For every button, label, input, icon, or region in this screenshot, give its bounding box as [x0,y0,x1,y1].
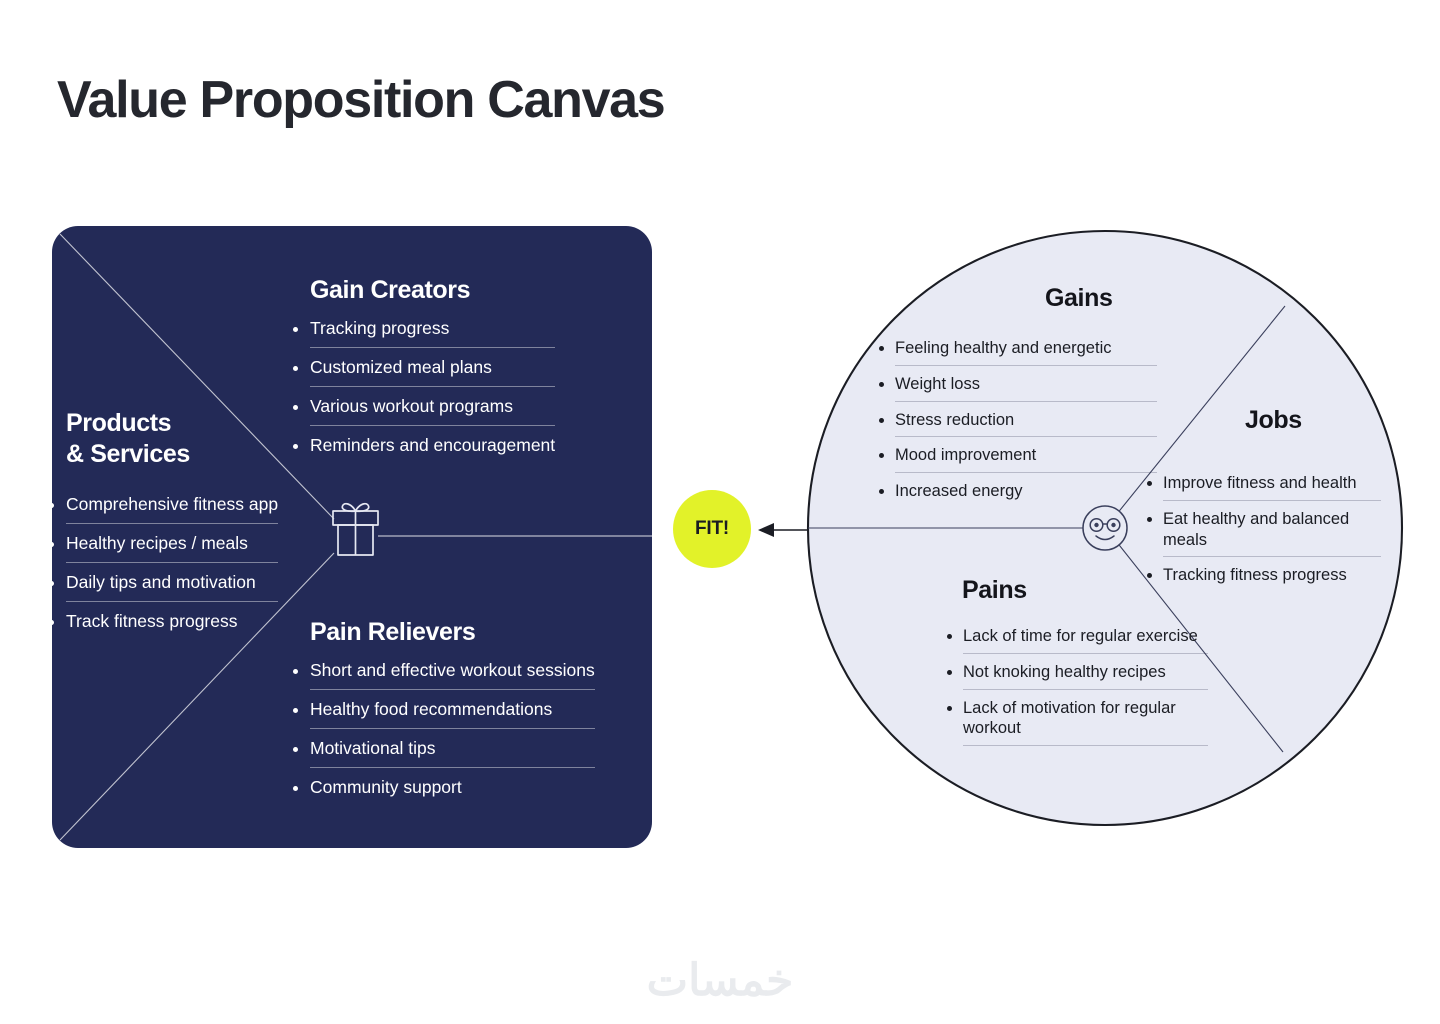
list-item: Reminders and encouragement [310,435,555,464]
gain-creators-heading: Gain Creators [310,276,470,305]
gift-icon [333,504,378,555]
jobs-heading: Jobs [1245,406,1302,435]
list-item: Mood improvement [895,445,1157,473]
page-title: Value Proposition Canvas [57,70,664,130]
fit-badge-label: FIT! [695,518,729,540]
list-item: Feeling healthy and energetic [895,338,1157,366]
pains-list: Lack of time for regular exercise Not kn… [963,626,1208,754]
list-item: Tracking progress [310,318,555,348]
customer-profile-circle: Gains Feeling healthy and energetic Weig… [805,228,1405,828]
list-item: Community support [310,777,595,806]
gain-creators-list: Tracking progress Customized meal plans … [310,318,555,473]
list-item: Short and effective workout sessions [310,660,595,690]
list-item: Lack of motivation for regular workout [963,698,1208,747]
pain-relievers-heading: Pain Relievers [310,618,475,647]
list-item: Motivational tips [310,738,595,768]
pain-relievers-list: Short and effective workout sessions Hea… [310,660,595,815]
watermark: خمسات [0,955,1440,1006]
list-item: Comprehensive fitness app [66,494,278,524]
products-services-heading-line1: Products [66,409,171,437]
list-item: Eat healthy and balanced meals [1163,509,1381,558]
list-item: Increased energy [895,481,1157,508]
list-item: Various workout programs [310,396,555,426]
value-proposition-panel: Gain Creators Tracking progress Customiz… [52,226,652,848]
products-services-heading-line2: & Services [66,440,190,468]
list-item: Healthy recipes / meals [66,533,278,563]
list-item: Improve fitness and health [1163,473,1381,501]
gains-list: Feeling healthy and energetic Weight los… [895,338,1157,516]
products-services-heading: Products & Services [66,408,296,469]
products-services-list: Comprehensive fitness app Healthy recipe… [66,494,278,649]
value-proposition-canvas-page: Value Proposition Canvas Gain Creators T… [0,0,1440,1024]
list-item: Healthy food recommendations [310,699,595,729]
list-item: Lack of time for regular exercise [963,626,1208,654]
list-item: Track fitness progress [66,611,278,640]
list-item: Stress reduction [895,410,1157,438]
fit-badge: FIT! [673,490,751,568]
list-item: Daily tips and motivation [66,572,278,602]
list-item: Tracking fitness progress [1163,565,1381,592]
list-item: Not knoking healthy recipes [963,662,1208,690]
list-item: Customized meal plans [310,357,555,387]
gains-heading: Gains [1045,284,1112,313]
jobs-list: Improve fitness and health Eat healthy a… [1163,473,1381,600]
list-item: Weight loss [895,374,1157,402]
pains-heading: Pains [962,576,1027,605]
